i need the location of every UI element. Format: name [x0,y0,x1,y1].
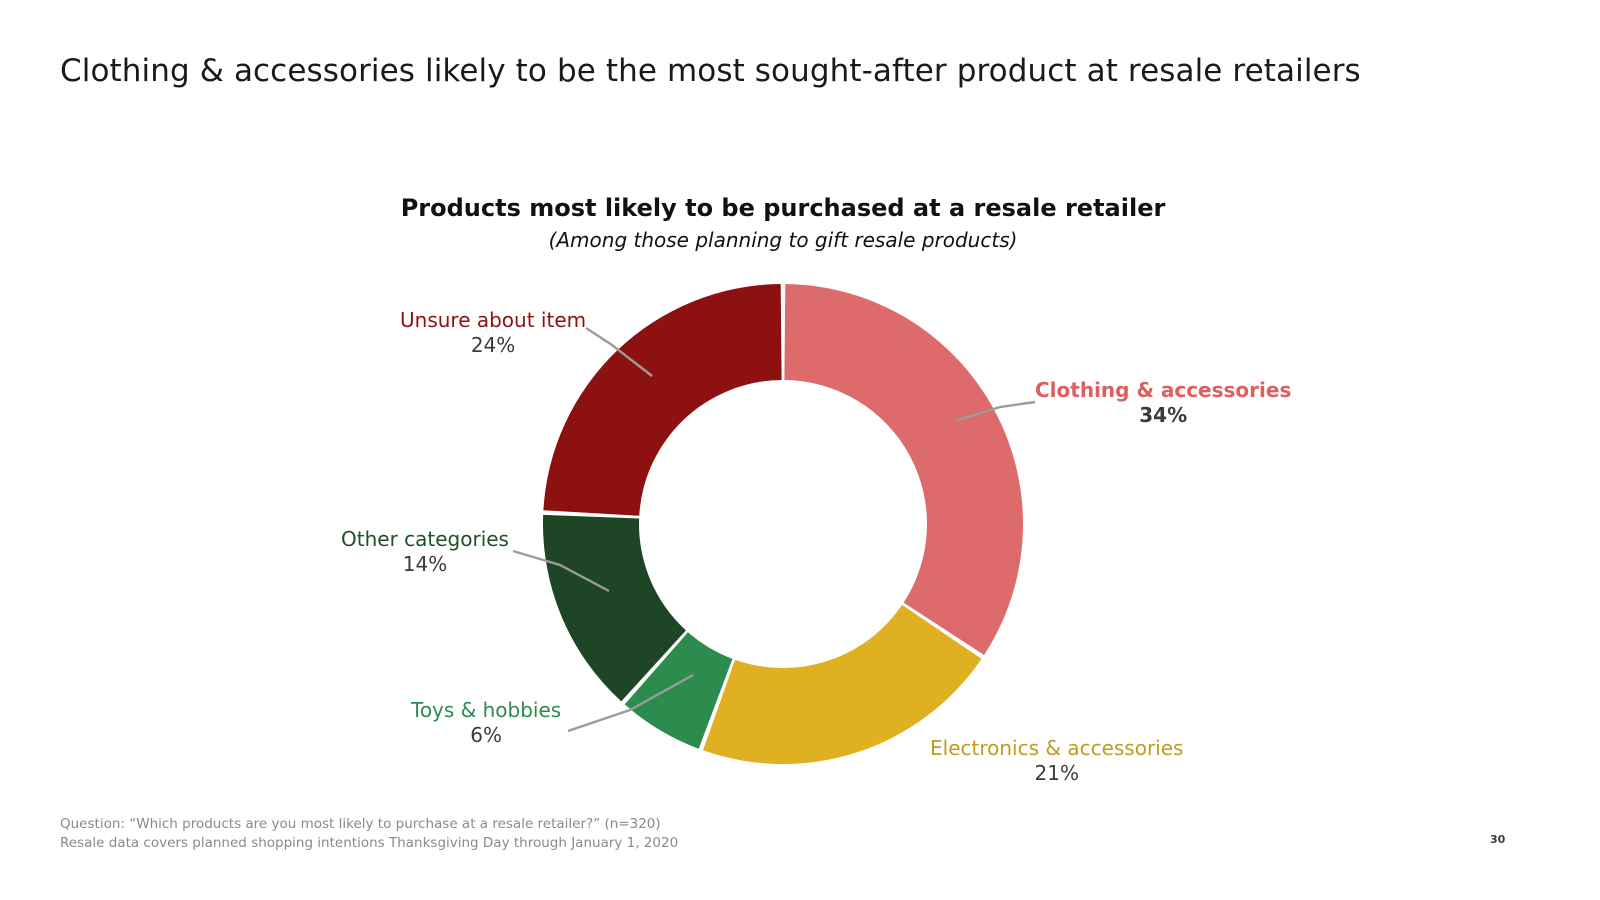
slice-label-clothing: Clothing & accessories 34% [1035,378,1291,428]
slice-label-electronics-value: 21% [930,761,1183,786]
footnote-question: Question: “Which products are you most l… [60,815,678,834]
slice-label-clothing-name: Clothing & accessories [1035,378,1291,403]
donut-slice [784,284,1023,655]
slice-label-toys-name: Toys & hobbies [411,698,561,723]
chart-subtitle: (Among those planning to gift resale pro… [283,226,1283,254]
slice-label-toys: Toys & hobbies 6% [411,698,561,748]
slice-label-unsure-value: 24% [400,333,586,358]
slice-label-other-categories-value: 14% [341,552,509,577]
page-title: Clothing & accessories likely to be the … [60,50,1510,92]
leader-lines [513,328,1035,736]
slice-label-unsure: Unsure about item 24% [400,308,586,358]
slice-label-unsure-name: Unsure about item [400,308,586,333]
slice-label-other-categories: Other categories 14% [341,527,509,577]
slice-label-electronics-name: Electronics & accessories [930,736,1183,761]
slice-label-clothing-value: 34% [1035,403,1291,428]
slice-label-toys-value: 6% [411,723,561,748]
leader-line-unsure [586,328,652,376]
leader-line-clothing [955,402,1035,421]
slice-label-electronics: Electronics & accessories 21% [930,736,1183,786]
chart-title: Products most likely to be purchased at … [283,193,1283,223]
footnote-block: Question: “Which products are you most l… [60,815,678,853]
footnote-coverage: Resale data covers planned shopping inte… [60,834,678,853]
donut-slices [543,284,1023,764]
donut-chart [0,0,1600,900]
donut-chart-svg [0,0,1600,900]
donut-slice [543,515,686,701]
page-number: 30 [1490,833,1505,846]
leader-line-other [513,551,609,591]
donut-slice [625,632,733,749]
chart-heading: Products most likely to be purchased at … [283,193,1283,254]
leader-line-toys [568,675,693,731]
slice-label-other-categories-name: Other categories [341,527,509,552]
